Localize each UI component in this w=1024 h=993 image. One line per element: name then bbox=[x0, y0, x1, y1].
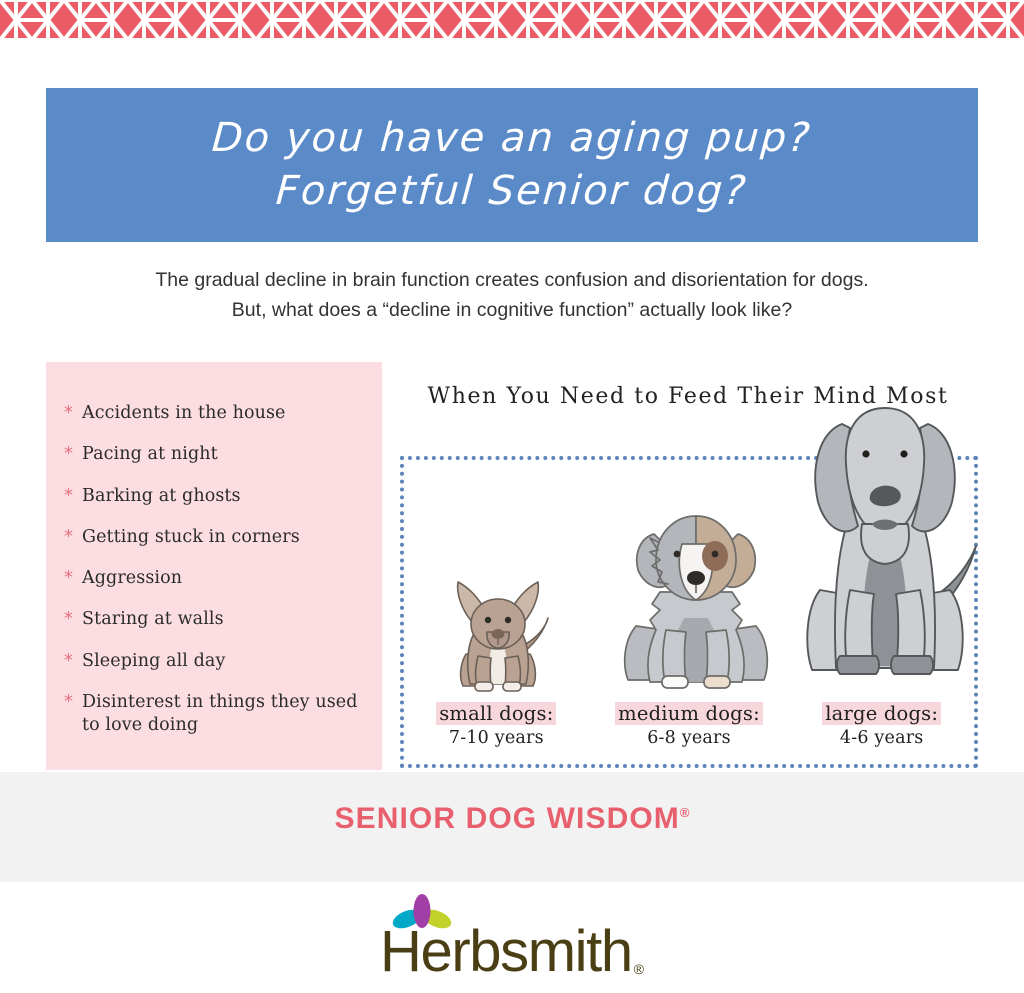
list-item-label: Pacing at night bbox=[82, 443, 218, 466]
leaf-logo-icon bbox=[391, 893, 453, 935]
intro-line-2: But, what does a “decline in cognitive f… bbox=[0, 296, 1024, 326]
list-item: * Aggression bbox=[64, 567, 364, 590]
list-item: * Accidents in the house bbox=[64, 402, 364, 425]
small-dog-label: small dogs: bbox=[436, 702, 556, 725]
small-dog-eye-left bbox=[485, 617, 491, 623]
list-item: * Sleeping all day bbox=[64, 650, 364, 673]
header-title-line-1: Do you have an aging pup? bbox=[210, 112, 813, 165]
brand-tagline-text: SENIOR DOG WISDOM bbox=[335, 802, 680, 835]
asterisk-bullet-icon: * bbox=[64, 567, 73, 590]
small-dog-eye-right bbox=[505, 617, 511, 623]
asterisk-bullet-icon: * bbox=[64, 608, 73, 631]
large-dog-eye-left bbox=[862, 450, 869, 457]
logo-registered-mark-icon: ® bbox=[634, 961, 644, 977]
header-banner: Do you have an aging pup? Forgetful Seni… bbox=[46, 88, 978, 242]
medium-dog-nose-icon bbox=[687, 571, 705, 585]
small-dog-nose-icon bbox=[492, 629, 505, 639]
intro-paragraph: The gradual decline in brain function cr… bbox=[0, 266, 1024, 325]
list-item: * Getting stuck in corners bbox=[64, 526, 364, 549]
medium-dog-figure bbox=[612, 498, 780, 698]
registered-mark-icon: ® bbox=[680, 805, 690, 820]
medium-dog-label-group: medium dogs: 6-8 years bbox=[593, 702, 786, 764]
list-item: * Pacing at night bbox=[64, 443, 364, 466]
small-dog-figure bbox=[434, 568, 564, 698]
asterisk-bullet-icon: * bbox=[64, 402, 73, 425]
header-title-line-2: Forgetful Senior dog? bbox=[274, 165, 749, 218]
large-dog-label-group: large dogs: 4-6 years bbox=[785, 702, 978, 764]
intro-line-1: The gradual decline in brain function cr… bbox=[0, 266, 1024, 296]
large-dog-icon bbox=[792, 398, 978, 698]
list-item-label: Staring at walls bbox=[82, 608, 224, 631]
large-dog-eye-right bbox=[900, 450, 907, 457]
banner-pattern-icon bbox=[0, 0, 1024, 40]
list-item-label: Getting stuck in corners bbox=[82, 526, 300, 549]
medium-dog-icon bbox=[612, 498, 780, 698]
list-item-label: Barking at ghosts bbox=[82, 485, 241, 508]
brand-tagline: SENIOR DOG WISDOM® bbox=[0, 802, 1024, 836]
list-item-label: Accidents in the house bbox=[82, 402, 286, 425]
small-dog-years: 7-10 years bbox=[400, 728, 593, 748]
medium-dog-years: 6-8 years bbox=[593, 728, 786, 748]
list-item: * Barking at ghosts bbox=[64, 485, 364, 508]
herbsmith-logo[interactable]: Herbsmith ® bbox=[0, 912, 1024, 992]
list-item: * Disinterest in things they used to lov… bbox=[64, 691, 364, 737]
small-dog-icon bbox=[434, 568, 564, 698]
top-decorative-banner bbox=[0, 0, 1024, 40]
dog-size-labels: small dogs: 7-10 years medium dogs: 6-8 … bbox=[400, 702, 978, 764]
large-dog-years: 4-6 years bbox=[785, 728, 978, 748]
list-item-label: Aggression bbox=[82, 567, 182, 590]
medium-dog-label: medium dogs: bbox=[615, 702, 763, 725]
small-dog-label-group: small dogs: 7-10 years bbox=[400, 702, 593, 764]
large-dog-figure bbox=[792, 398, 978, 698]
asterisk-bullet-icon: * bbox=[64, 526, 73, 549]
asterisk-bullet-icon: * bbox=[64, 650, 73, 673]
symptom-list-panel: * Accidents in the house * Pacing at nig… bbox=[46, 362, 382, 770]
list-item-label: Disinterest in things they used to love … bbox=[82, 691, 364, 737]
list-item-label: Sleeping all day bbox=[82, 650, 225, 673]
large-dog-label: large dogs: bbox=[822, 702, 941, 725]
asterisk-bullet-icon: * bbox=[64, 485, 73, 508]
medium-dog-eye-left bbox=[674, 551, 681, 558]
medium-dog-eye-right bbox=[712, 551, 719, 558]
list-item: * Staring at walls bbox=[64, 608, 364, 631]
asterisk-bullet-icon: * bbox=[64, 691, 73, 714]
asterisk-bullet-icon: * bbox=[64, 443, 73, 466]
